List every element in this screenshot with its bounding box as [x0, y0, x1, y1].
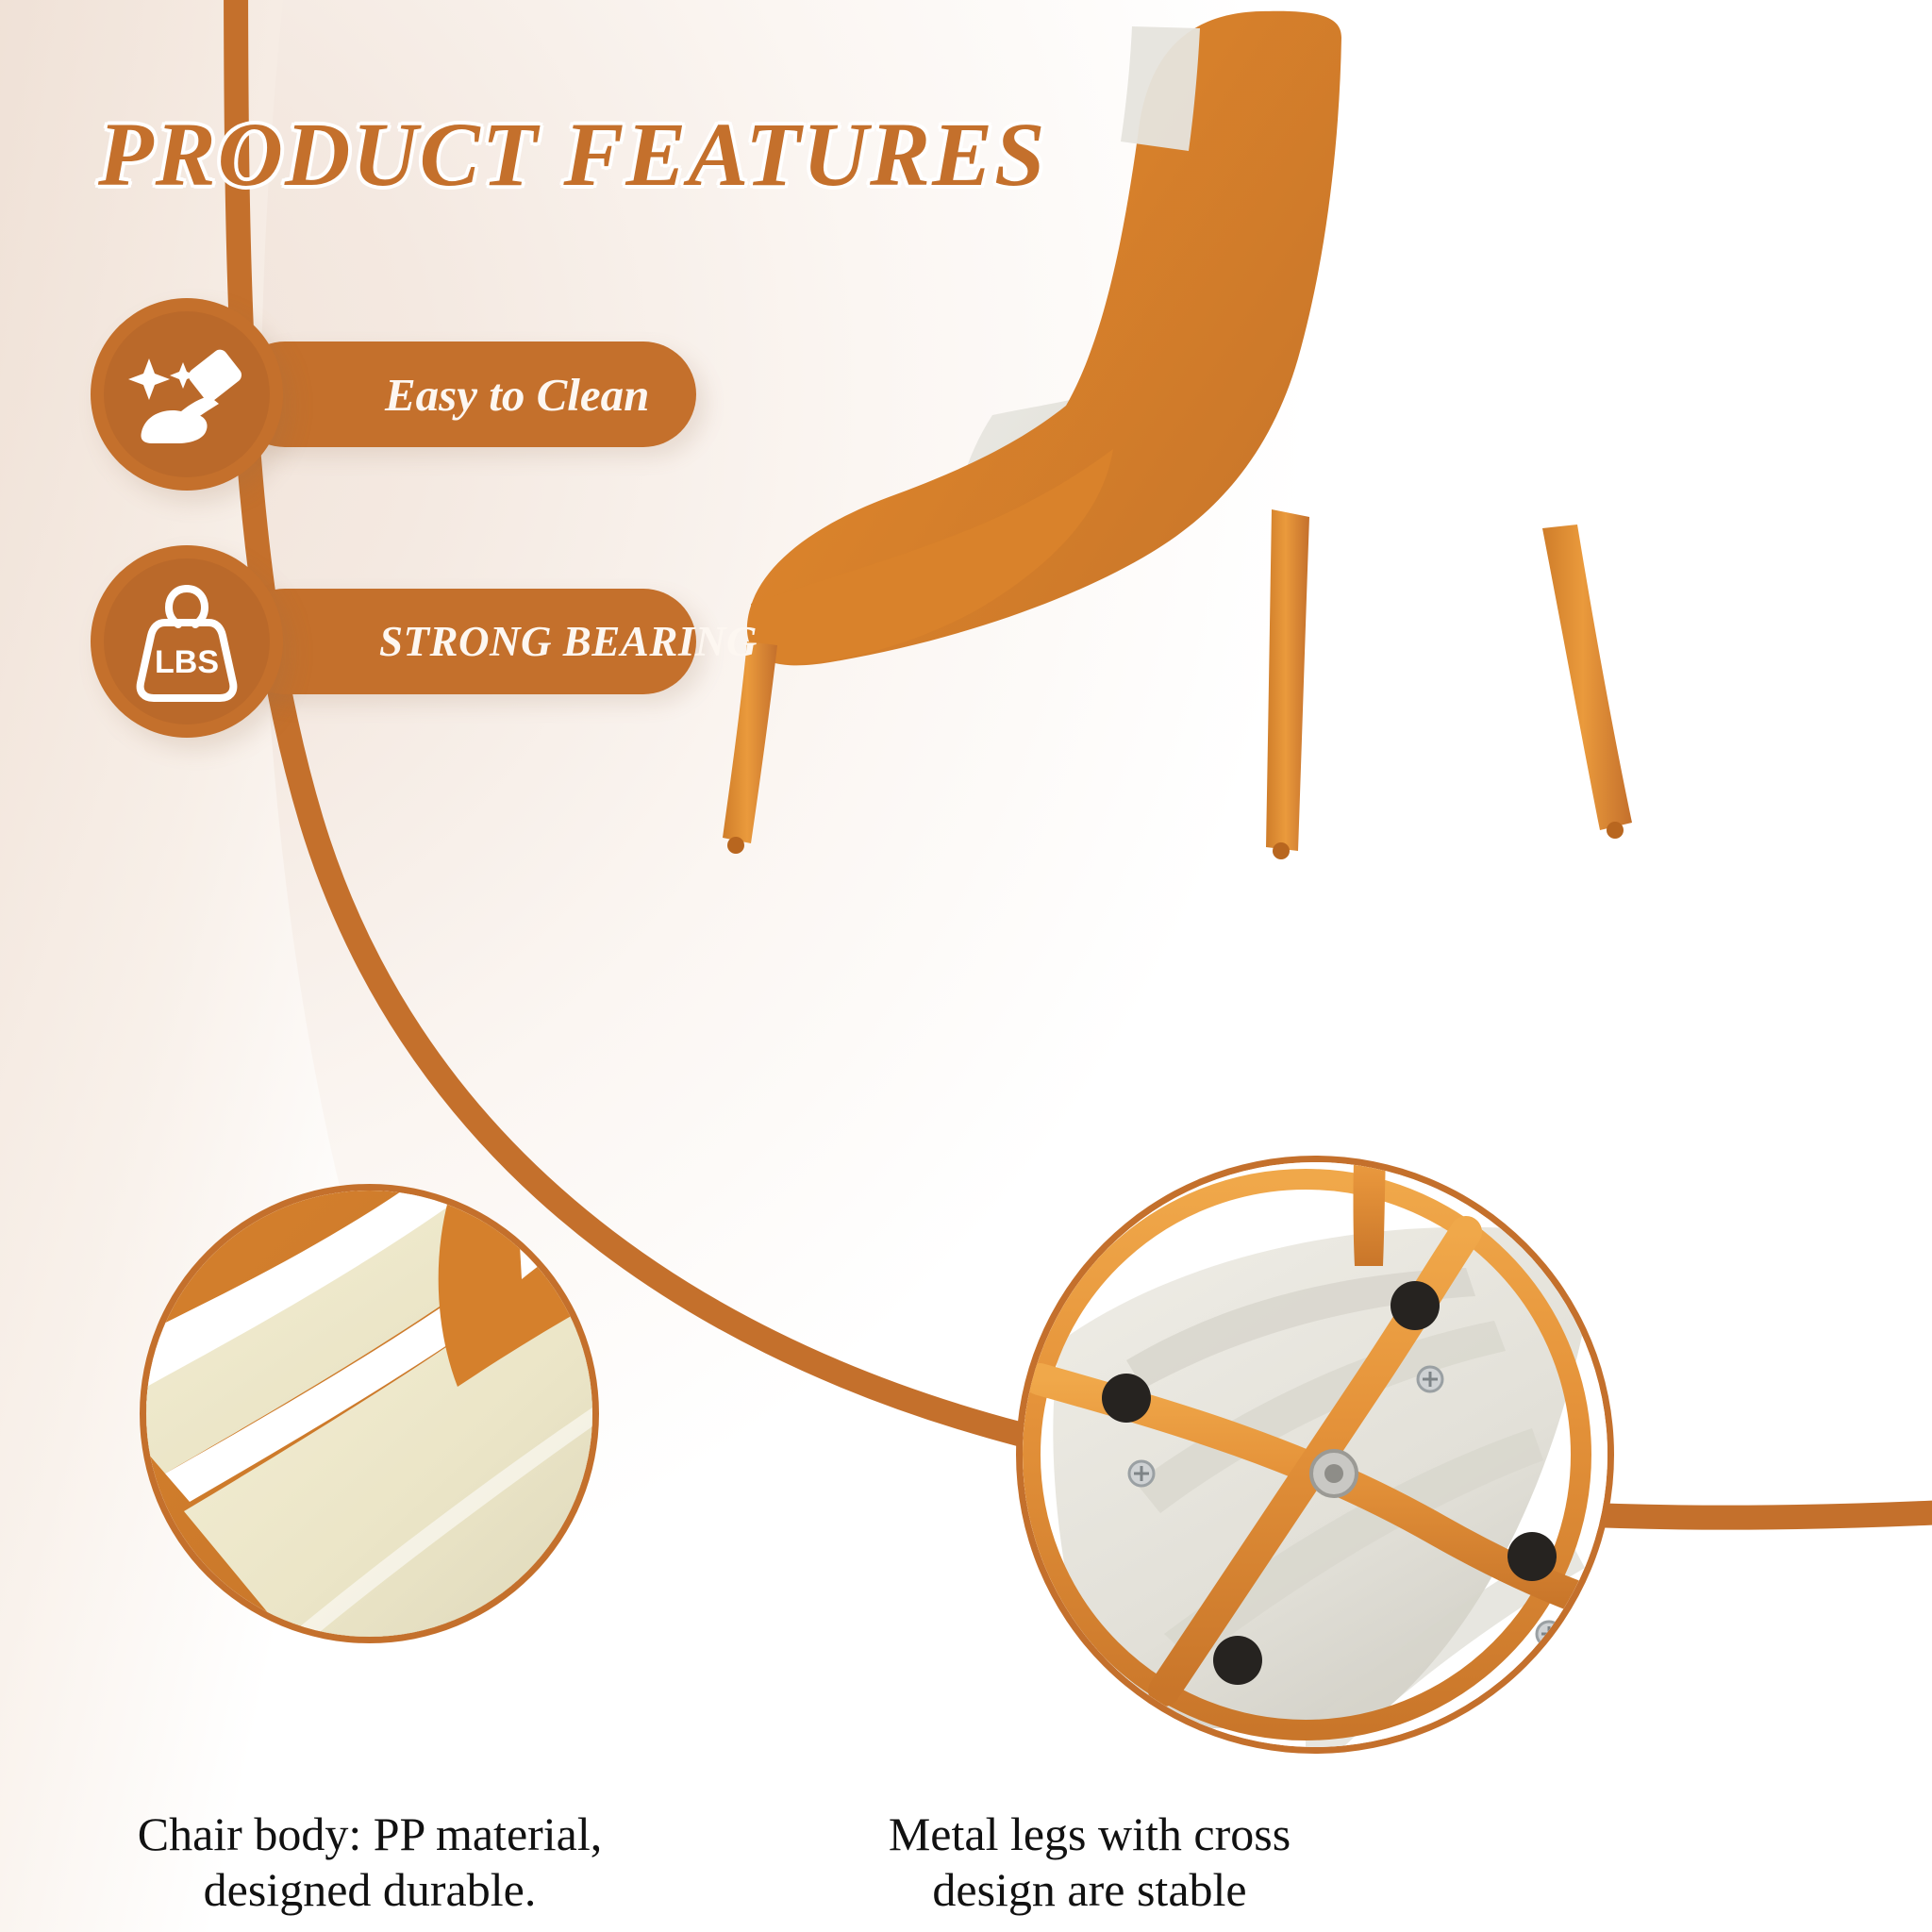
feature-pill[interactable]: STRONG BEARING — [232, 589, 696, 694]
caption-line-2: designed durable. — [58, 1862, 681, 1918]
feature-label: STRONG BEARING — [379, 617, 758, 666]
feature-strong-bearing[interactable]: STRONG BEARING LBS — [91, 545, 808, 738]
feature-label: Easy to Clean — [385, 368, 649, 422]
page-title: PRODUCT FEATURES — [98, 102, 1047, 207]
sparkle-cloth-icon — [91, 298, 283, 491]
caption-line-1: Chair body: PP material, — [58, 1807, 681, 1862]
detail-circle-chair-body — [146, 1191, 592, 1637]
lbs-label: LBS — [155, 644, 219, 680]
infographic-canvas: Easy to Clean STRONG BEARING — [0, 0, 1932, 1932]
lbs-weight-icon: LBS — [91, 545, 283, 738]
detail-caption-metal-legs: Metal legs with cross design are stable — [797, 1807, 1382, 1918]
caption-line-1: Metal legs with cross — [797, 1807, 1382, 1862]
detail-caption-chair-body: Chair body: PP material, designed durabl… — [58, 1807, 681, 1918]
feature-easy-to-clean[interactable]: Easy to Clean — [91, 298, 789, 491]
detail-circle-metal-legs — [1023, 1162, 1607, 1747]
feature-pill[interactable]: Easy to Clean — [232, 341, 696, 447]
caption-line-2: design are stable — [797, 1862, 1382, 1918]
